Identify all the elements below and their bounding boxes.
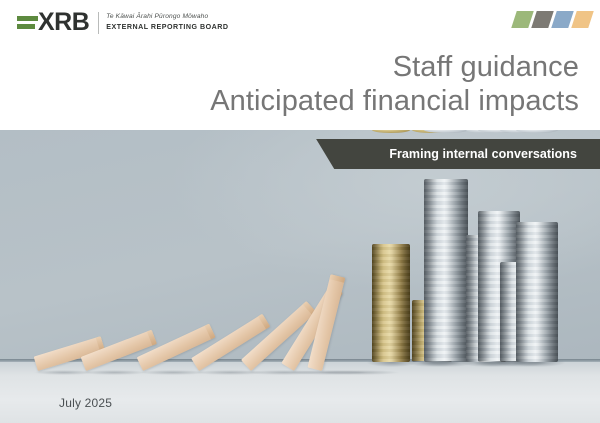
color-bar-green bbox=[511, 11, 534, 28]
color-bar-blue bbox=[551, 11, 574, 28]
logo-english-name: EXTERNAL REPORTING BOARD bbox=[106, 23, 228, 33]
color-bar-gray bbox=[531, 11, 554, 28]
color-bar-orange bbox=[571, 11, 594, 28]
coin-stack-silver bbox=[424, 179, 468, 362]
cover-page: XRB Te Kāwai Ārahi Pūrongo Mōwaho EXTERN… bbox=[0, 0, 600, 423]
logo-mark: XRB bbox=[17, 10, 89, 35]
logo-text-block: Te Kāwai Ārahi Pūrongo Mōwaho EXTERNAL R… bbox=[106, 13, 228, 32]
page-header: XRB Te Kāwai Ārahi Pūrongo Mōwaho EXTERN… bbox=[0, 0, 600, 130]
domino-shadow bbox=[318, 370, 400, 375]
e-bar-top bbox=[17, 16, 38, 21]
title-line-1: Staff guidance bbox=[210, 50, 579, 84]
page-title: Staff guidance Anticipated financial imp… bbox=[210, 50, 579, 118]
publication-date: July 2025 bbox=[59, 396, 112, 410]
e-bar-bottom bbox=[17, 24, 35, 29]
coin bbox=[372, 359, 410, 362]
subtitle-banner: Framing internal conversations bbox=[298, 139, 600, 169]
logo-divider bbox=[98, 12, 99, 34]
coin bbox=[424, 358, 468, 361]
xrb-logo: XRB Te Kāwai Ārahi Pūrongo Mōwaho EXTERN… bbox=[17, 10, 229, 35]
cover-photo bbox=[0, 130, 600, 423]
coin-stack-silver bbox=[516, 222, 558, 362]
xrb-e-bars-icon bbox=[17, 16, 38, 29]
coin bbox=[516, 359, 558, 362]
coin-stack-gold bbox=[372, 244, 410, 362]
subtitle-banner-text: Framing internal conversations bbox=[389, 147, 600, 161]
brand-color-bars bbox=[514, 11, 591, 28]
title-line-2: Anticipated financial impacts bbox=[210, 84, 579, 118]
domino-shadow bbox=[82, 370, 147, 375]
logo-maori-name: Te Kāwai Ārahi Pūrongo Mōwaho bbox=[106, 13, 228, 22]
logo-wordmark: XRB bbox=[38, 10, 89, 35]
